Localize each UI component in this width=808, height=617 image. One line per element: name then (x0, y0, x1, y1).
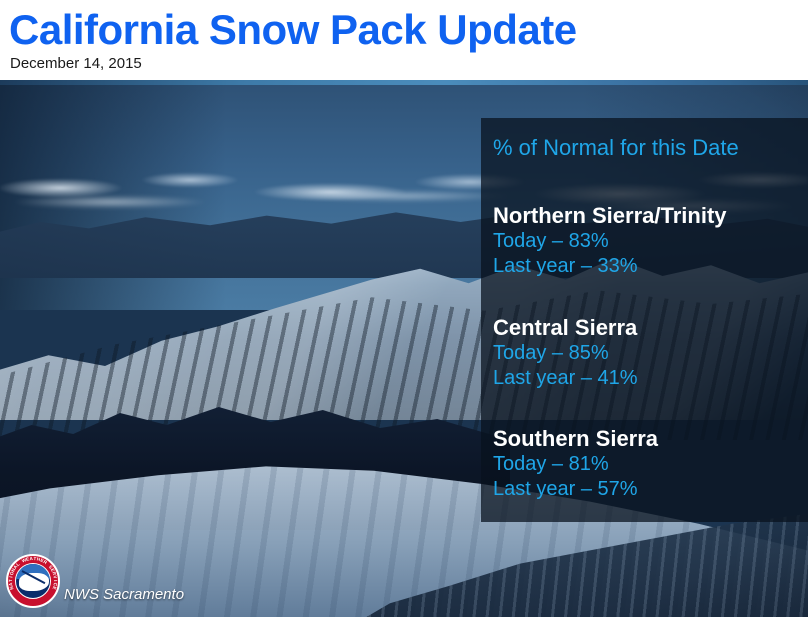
region-last-year-value: Last year – 41% (493, 366, 638, 391)
nws-logo-inner (15, 563, 51, 599)
stats-panel-heading: % of Normal for this Date (493, 135, 739, 161)
footer-caption: NWS Sacramento (64, 586, 184, 603)
region-block-southern-sierra: Southern Sierra Today – 81% Last year – … (493, 426, 658, 502)
region-last-year-value: Last year – 57% (493, 477, 658, 502)
region-today-value: Today – 85% (493, 341, 638, 366)
page-title: California Snow Pack Update (9, 6, 577, 54)
region-last-year-value: Last year – 33% (493, 254, 727, 279)
slide-header: California Snow Pack Update December 14,… (0, 0, 808, 80)
slide-root: California Snow Pack Update December 14,… (0, 0, 808, 617)
region-block-central-sierra: Central Sierra Today – 85% Last year – 4… (493, 315, 638, 391)
region-name: Northern Sierra/Trinity (493, 203, 727, 229)
page-date: December 14, 2015 (10, 55, 142, 72)
region-name: Central Sierra (493, 315, 638, 341)
stats-panel: % of Normal for this Date Northern Sierr… (481, 118, 808, 522)
region-today-value: Today – 83% (493, 229, 727, 254)
nws-logo-icon: NATIONALWEATHERSERVICE (6, 554, 60, 608)
region-today-value: Today – 81% (493, 452, 658, 477)
region-block-northern-sierra-trinity: Northern Sierra/Trinity Today – 83% Last… (493, 203, 727, 279)
region-name: Southern Sierra (493, 426, 658, 452)
